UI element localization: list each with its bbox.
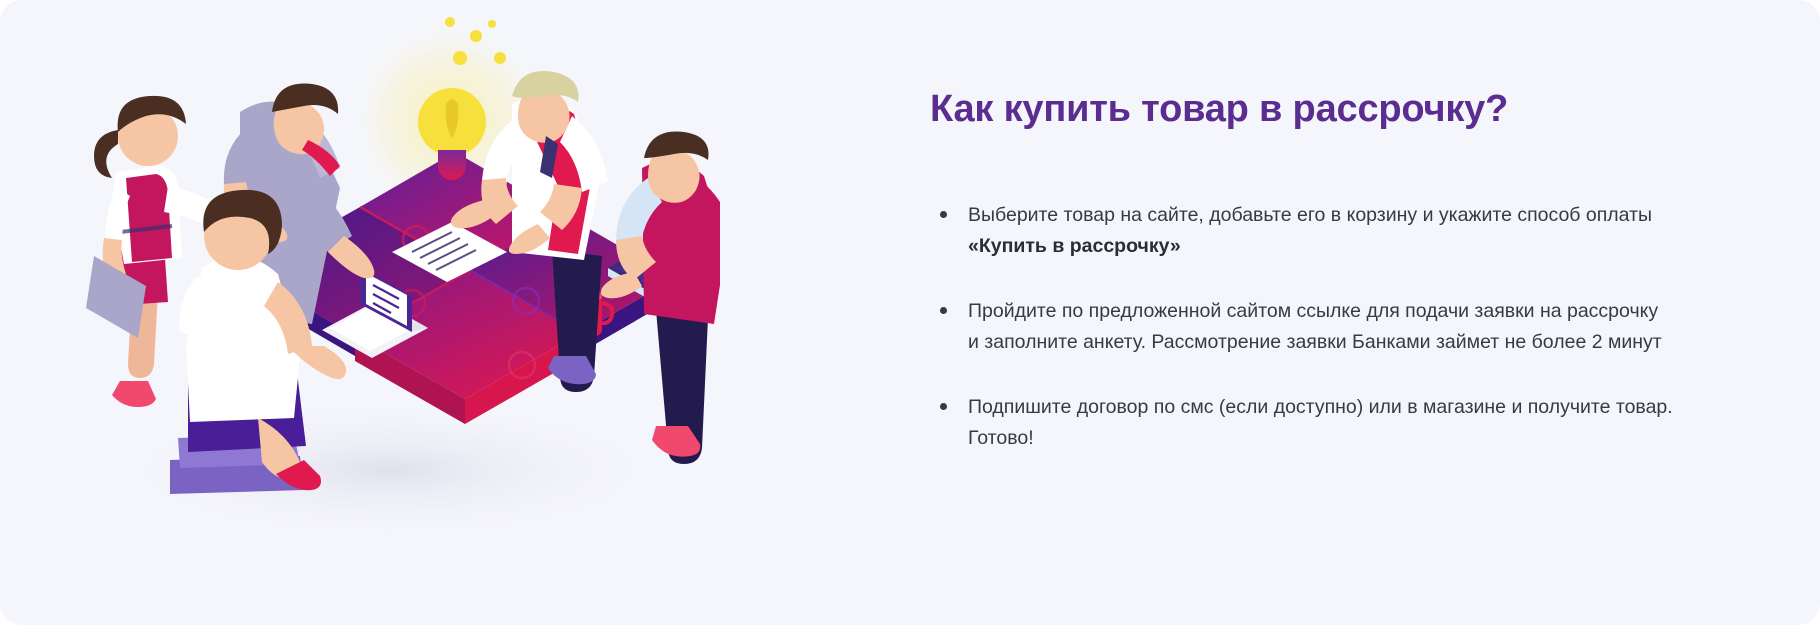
step-text-lead: Пройдите по предложенной сайтом ссылке д… — [968, 300, 1662, 353]
shoe — [112, 381, 156, 407]
isometric-team-puzzle-table-illustration — [60, 0, 720, 560]
installment-info-card: Как купить товар в рассрочку? Выберите т… — [0, 0, 1820, 625]
pinafore — [126, 174, 172, 262]
bullet-dot-icon — [940, 211, 947, 218]
spark-dot — [494, 52, 506, 64]
list-item: Подпишите договор по смс (если доступно)… — [934, 392, 1674, 454]
spark-dot — [488, 20, 496, 28]
bullet-dot-icon — [940, 403, 947, 410]
step-text-lead: Выберите товар на сайте, добавьте его в … — [968, 204, 1652, 226]
text-panel: Как купить товар в рассрочку? Выберите т… — [930, 0, 1690, 625]
step-text-lead: Подпишите договор по смс (если доступно)… — [968, 396, 1673, 449]
bullet-dot-icon — [940, 307, 947, 314]
ponytail — [94, 130, 118, 178]
step-text-strong: «Купить в рассрочку» — [968, 235, 1181, 257]
list-item: Выберите товар на сайте, добавьте его в … — [934, 200, 1674, 262]
illustration-panel — [0, 0, 760, 625]
head — [648, 149, 700, 202]
list-item: Пройдите по предложенной сайтом ссылке д… — [934, 296, 1674, 358]
spark-dot — [470, 30, 482, 42]
steps-list: Выберите товар на сайте, добавьте его в … — [934, 200, 1674, 454]
spark-dot — [453, 51, 467, 65]
spark-dot — [445, 17, 455, 27]
page-title: Как купить товар в рассрочку? — [930, 88, 1508, 131]
